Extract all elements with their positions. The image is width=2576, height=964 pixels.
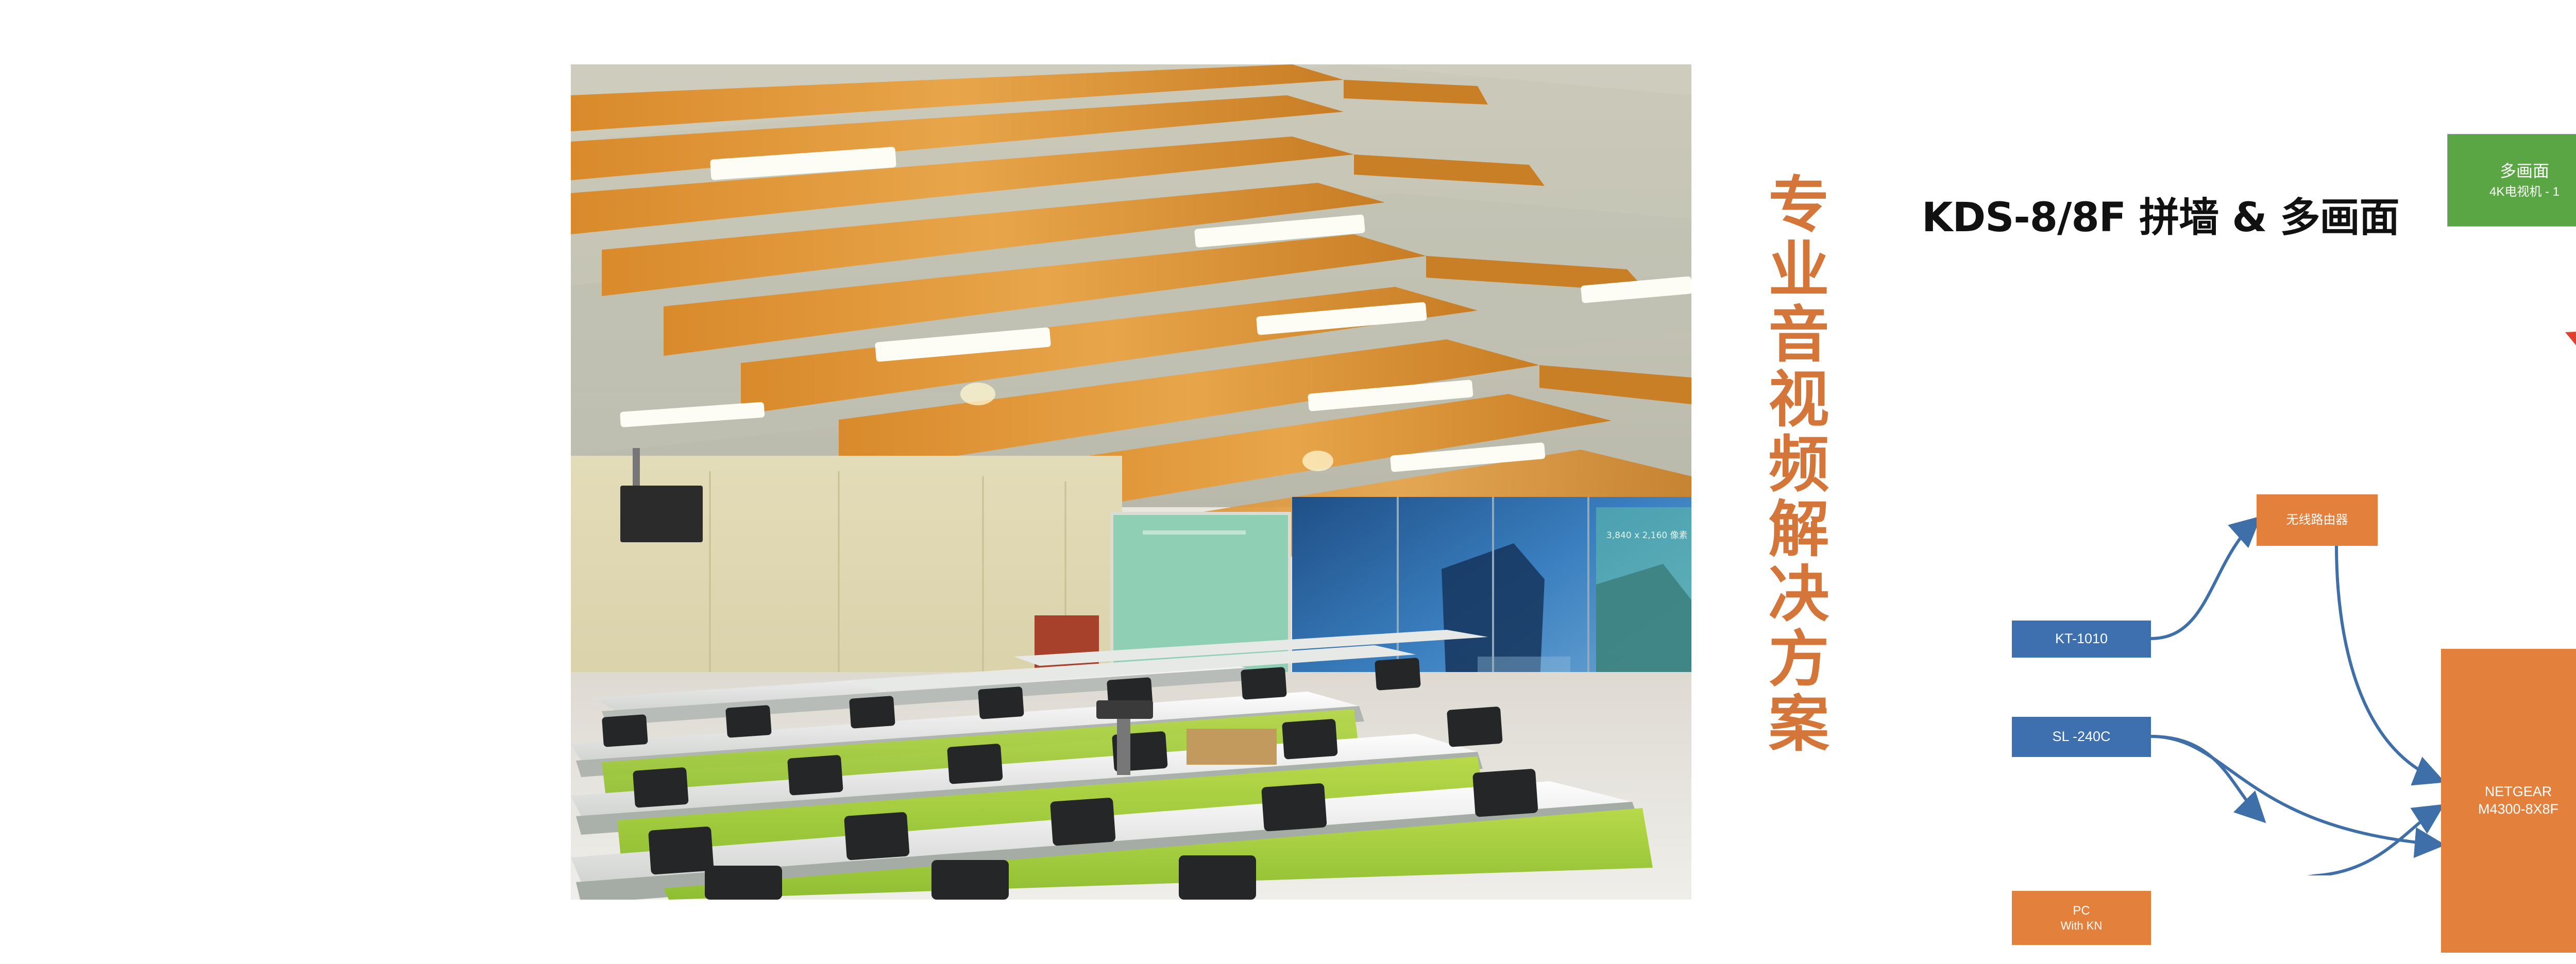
node-pc[interactable]: PC With KN bbox=[2012, 891, 2151, 945]
switch-line2: M4300-8X8F bbox=[2478, 801, 2558, 818]
vertical-tagline: 专业音视频解决方案 bbox=[1752, 173, 1824, 811]
node-netgear-switch[interactable]: NETGEAR M4300-8X8F bbox=[2441, 649, 2576, 953]
node-kt-1010[interactable]: KT-1010 bbox=[2012, 621, 2151, 658]
sl-240c-label: SL -240C bbox=[2052, 728, 2110, 746]
switch-line1: NETGEAR bbox=[2485, 783, 2552, 801]
node-sl-240c[interactable]: SL -240C bbox=[2012, 717, 2151, 757]
lecture-hall-photo: 3,840 x 2,160 像素 bbox=[571, 64, 1691, 900]
wireless-router-label: 无线路由器 bbox=[2286, 512, 2348, 528]
multiview-line2: 4K电视机 - 1 bbox=[2489, 184, 2560, 200]
multiview-line1: 多画面 bbox=[2500, 161, 2549, 181]
diagram-title: KDS-8/8F 拼墙 & 多画面 bbox=[1922, 185, 2399, 243]
node-wireless-router[interactable]: 无线路由器 bbox=[2257, 494, 2378, 546]
kt-1010-label: KT-1010 bbox=[2055, 630, 2108, 648]
lecture-hall-illustration: 3,840 x 2,160 像素 bbox=[571, 64, 1691, 900]
kds-system-diagram: KDS-8/8F 拼墙 & 多画面 bbox=[1901, 113, 2576, 875]
pc-line1: PC bbox=[2073, 903, 2090, 919]
svg-text:3,840 x 2,160 像素: 3,840 x 2,160 像素 bbox=[1606, 530, 1688, 541]
pc-line2: With KN bbox=[2061, 919, 2103, 933]
display-multiview: 多画面 4K电视机 - 1 bbox=[2447, 134, 2576, 227]
